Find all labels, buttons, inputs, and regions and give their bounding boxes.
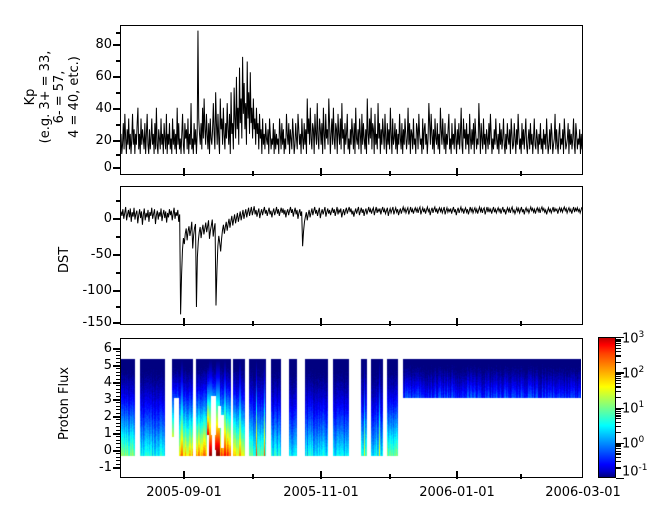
- colorbar-tick-minor: [616, 386, 621, 387]
- kp-ytick-major: [113, 140, 121, 142]
- colorbar-tick-minor: [616, 374, 621, 375]
- colorbar-tick-minor: [616, 415, 621, 416]
- flux-ytick-minor: [116, 436, 121, 437]
- kp-axis-title-line-2: (e.g. 3+ = 33,: [39, 22, 54, 172]
- flux-ytick-minor: [116, 382, 121, 383]
- colorbar-tick-minor: [616, 345, 621, 346]
- flux-spectrogram: [121, 339, 581, 476]
- colorbar: [598, 337, 616, 478]
- flux-ytick-label-m1: -1: [78, 461, 112, 474]
- flux-ytick-minor: [116, 443, 121, 444]
- flux-ytick-minor: [116, 460, 121, 461]
- flux-xtick: [252, 474, 254, 479]
- flux-ytick-minor: [116, 447, 121, 448]
- colorbar-tick-minor: [616, 451, 621, 452]
- dst-ytick-label-m100: -100: [72, 284, 112, 297]
- flux-panel-frame: [120, 338, 583, 478]
- colorbar-tick-minor: [616, 426, 621, 427]
- colorbar-mantissa: 10: [622, 331, 639, 346]
- kp-axis-title-line-3: 6- = 57,: [53, 22, 68, 172]
- flux-xtick: [456, 471, 458, 479]
- colorbar-tick-minor: [616, 378, 621, 379]
- colorbar-tick-minor: [616, 397, 621, 398]
- flux-ytick-label-5: 5: [82, 359, 112, 372]
- dst-ytick-major: [113, 322, 121, 324]
- colorbar-exponent: -1: [639, 463, 648, 473]
- colorbar-tick-label-100: 102: [622, 366, 644, 380]
- colorbar-tick-minor: [616, 339, 621, 340]
- colorbar-tick-minor: [616, 409, 621, 410]
- flux-ytick-minor: [116, 375, 121, 376]
- flux-ytick-label-0: 0: [82, 444, 112, 457]
- flux-ytick-minor: [116, 423, 121, 424]
- flux-ytick-minor: [116, 467, 121, 468]
- flux-ytick-minor: [116, 385, 121, 386]
- dst-ytick-label-m50: -50: [72, 248, 112, 261]
- colorbar-tick-minor: [616, 348, 621, 349]
- colorbar-mantissa: 10: [622, 366, 639, 381]
- flux-ytick-minor: [116, 368, 121, 369]
- colorbar-tick-minor: [616, 362, 621, 363]
- kp-ytick-label-80: 80: [80, 38, 112, 51]
- kp-axis-title-line-1: Kp: [24, 22, 39, 172]
- colorbar-exponent: 0: [639, 435, 645, 445]
- flux-ytick-minor: [116, 399, 121, 400]
- kp-ytick-label-20: 20: [80, 134, 112, 147]
- dst-ytick-major: [113, 254, 121, 256]
- flux-ytick-label-3: 3: [82, 393, 112, 406]
- flux-ytick-minor: [116, 416, 121, 417]
- kp-ytick-major: [113, 76, 121, 78]
- kp-ytick-label-40: 40: [80, 102, 112, 115]
- flux-ytick-minor: [116, 396, 121, 397]
- flux-ytick-minor: [116, 351, 121, 352]
- kp-axis-title: Kp (e.g. 3+ = 33, 6- = 57, 4 = 40, etc.): [24, 22, 82, 172]
- colorbar-exponent: 1: [639, 400, 645, 410]
- dst-axis-title: DST: [58, 247, 73, 273]
- flux-ytick-minor: [116, 440, 121, 441]
- flux-ytick-minor: [116, 430, 121, 431]
- colorbar-tick-label-10: 101: [622, 401, 644, 415]
- flux-axis-title: Proton Flux: [58, 367, 73, 440]
- colorbar-mantissa: 10: [622, 464, 639, 479]
- flux-ytick-minor: [116, 433, 121, 434]
- flux-ytick-minor: [116, 419, 121, 420]
- figure-canvas: Kp (e.g. 3+ = 33, 6- = 57, 4 = 40, etc.)…: [0, 0, 665, 523]
- kp-ytick-label-60: 60: [80, 70, 112, 83]
- colorbar-exponent: 2: [639, 365, 645, 375]
- colorbar-tick-label-0p1: 10-1: [622, 464, 648, 478]
- xtick-label-2: 2005-11-01: [271, 486, 371, 499]
- dst-ytick-major: [113, 218, 121, 220]
- dst-ytick-major: [113, 290, 121, 292]
- flux-xtick: [320, 471, 322, 479]
- kp-ytick-major: [113, 167, 121, 169]
- flux-ytick-minor: [116, 348, 121, 349]
- kp-ytick-major: [113, 44, 121, 46]
- colorbar-tick-minor: [616, 444, 621, 445]
- flux-ytick-minor: [116, 402, 121, 403]
- flux-ytick-label-6: 6: [82, 342, 112, 355]
- xtick-label-4: 2006-03-01: [533, 486, 633, 499]
- flux-ytick-label-2: 2: [82, 410, 112, 423]
- colorbar-tick-minor: [616, 383, 621, 384]
- colorbar-tick-minor: [616, 461, 621, 462]
- colorbar-tick-minor: [616, 413, 621, 414]
- flux-ytick-minor: [116, 457, 121, 458]
- colorbar-mantissa: 10: [622, 401, 639, 416]
- xtick-label-3: 2006-01-01: [407, 486, 507, 499]
- colorbar-tick-minor: [616, 355, 621, 356]
- kp-trace: [121, 26, 582, 174]
- colorbar-tick-minor: [616, 418, 621, 419]
- flux-ytick-minor: [116, 409, 121, 410]
- dst-ytick-label-0: 0: [72, 212, 112, 225]
- flux-ytick-label-1: 1: [82, 427, 112, 440]
- flux-ytick-minor: [116, 453, 121, 454]
- kp-ytick-major: [113, 108, 121, 110]
- flux-ytick-minor: [116, 379, 121, 380]
- colorbar-mantissa: 10: [622, 436, 639, 451]
- flux-ytick-minor: [116, 365, 121, 366]
- flux-ytick-minor: [116, 392, 121, 393]
- flux-xtick: [183, 471, 185, 479]
- colorbar-tick-minor: [616, 453, 621, 454]
- dst-ytick-label-m150: -150: [72, 316, 112, 329]
- flux-ytick-minor: [116, 372, 121, 373]
- colorbar-tick-minor: [616, 446, 621, 447]
- flux-ytick-minor: [116, 464, 121, 465]
- colorbar-tick-minor: [616, 422, 621, 423]
- colorbar-tick-minor: [616, 351, 621, 352]
- colorbar-tick-minor: [616, 448, 621, 449]
- colorbar-tick-minor: [616, 457, 621, 458]
- flux-ytick-minor: [116, 355, 121, 356]
- colorbar-tick-minor: [616, 411, 621, 412]
- colorbar-tick-minor: [616, 391, 621, 392]
- flux-xtick: [389, 474, 391, 479]
- xtick-label-1: 2005-09-01: [134, 486, 234, 499]
- colorbar-tick-minor: [616, 380, 621, 381]
- colorbar-tick-minor: [616, 432, 621, 433]
- kp-ytick-label-0: 0: [80, 161, 112, 174]
- flux-ytick-minor: [116, 426, 121, 427]
- colorbar-tick-label-1000: 103: [622, 331, 644, 345]
- flux-ytick-minor: [116, 413, 121, 414]
- flux-ytick-minor: [116, 362, 121, 363]
- colorbar-tick-minor: [616, 467, 621, 468]
- flux-ytick-minor: [116, 358, 121, 359]
- colorbar-tick-minor: [616, 340, 621, 341]
- flux-ytick-minor: [116, 389, 121, 390]
- colorbar-exponent: 3: [639, 330, 645, 340]
- flux-ytick-label-4: 4: [82, 376, 112, 389]
- colorbar-tick-minor: [616, 343, 621, 344]
- dst-trace: [121, 187, 582, 324]
- colorbar-tick-label-1: 100: [622, 436, 644, 450]
- flux-ytick-minor: [116, 450, 121, 451]
- flux-ytick-minor: [116, 406, 121, 407]
- flux-xtick: [520, 474, 522, 479]
- colorbar-tick-minor: [616, 376, 621, 377]
